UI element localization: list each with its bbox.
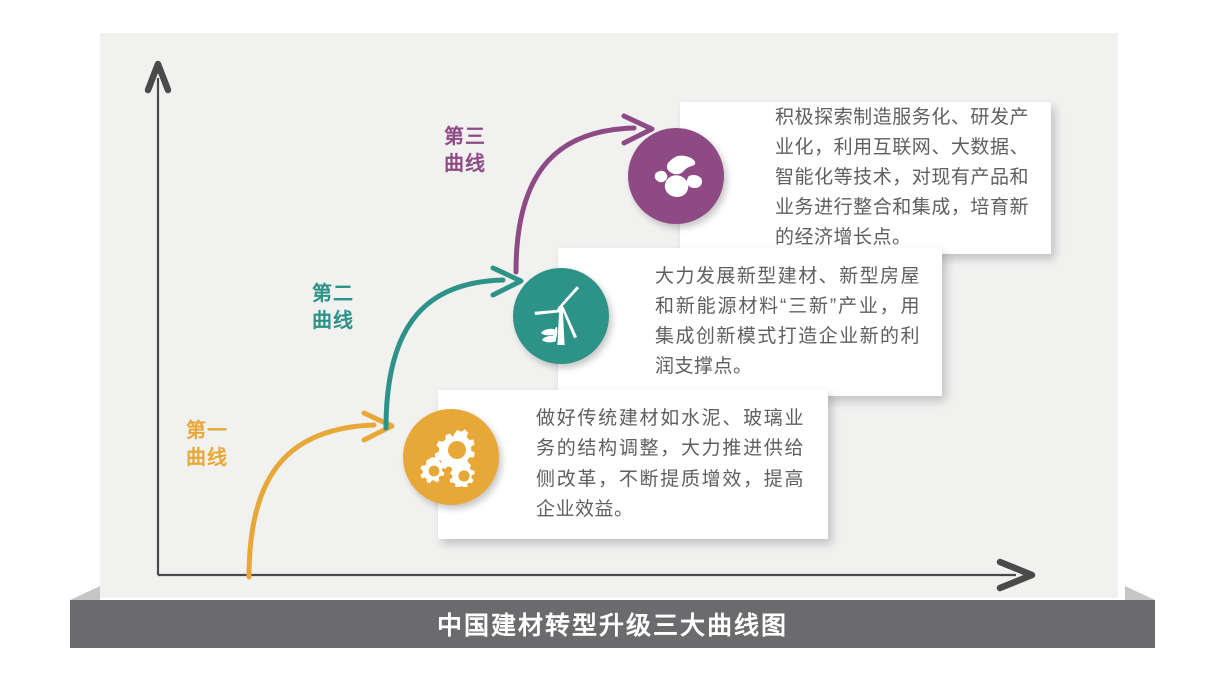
gears-icon — [419, 427, 483, 487]
stage-1-icon-badge — [403, 409, 499, 505]
y-axis-arrow — [148, 64, 168, 575]
curve-2-label: 第二 曲线 — [312, 281, 354, 335]
callout-3-text: 积极探索制造服务化、研发产业化，利用互联网、大数据、智能化等技术，对现有产品和业… — [775, 103, 1029, 253]
page-title: 中国建材转型升级三大曲线图 — [437, 606, 788, 642]
infographic-stage: 第一 曲线 第二 曲线 第三 曲线 积极探索制造服务化、研发产业化，利用互联网、… — [0, 0, 1231, 689]
wind-turbine-leaf-icon — [530, 283, 592, 349]
title-banner: 中国建材转型升级三大曲线图 — [70, 600, 1155, 648]
stage-3-icon-badge — [628, 128, 724, 224]
callout-card-3: 积极探索制造服务化、研发产业化，利用互联网、大数据、智能化等技术，对现有产品和业… — [680, 102, 1051, 254]
x-axis-arrow — [158, 562, 1032, 588]
stage-2-icon-badge — [513, 268, 609, 364]
ribbon-fold-left — [70, 586, 100, 600]
callout-2-text: 大力发展新型建材、新型房屋和新能源材料“三新”产业，用集成创新模式打造企业新的利… — [655, 262, 920, 382]
callout-1-text: 做好传统建材如水泥、玻璃业务的结构调整，大力推进供给侧改革，不断提质增效，提高企… — [536, 404, 804, 524]
callout-card-2: 大力发展新型建材、新型房屋和新能源材料“三新”产业，用集成创新模式打造企业新的利… — [558, 248, 942, 396]
curve-1-label: 第一 曲线 — [186, 418, 228, 472]
ribbon-fold-right — [1125, 586, 1155, 600]
globe-world-map-icon — [645, 145, 707, 207]
curve-3-label: 第三 曲线 — [444, 124, 486, 178]
curve-1-path — [249, 413, 392, 577]
